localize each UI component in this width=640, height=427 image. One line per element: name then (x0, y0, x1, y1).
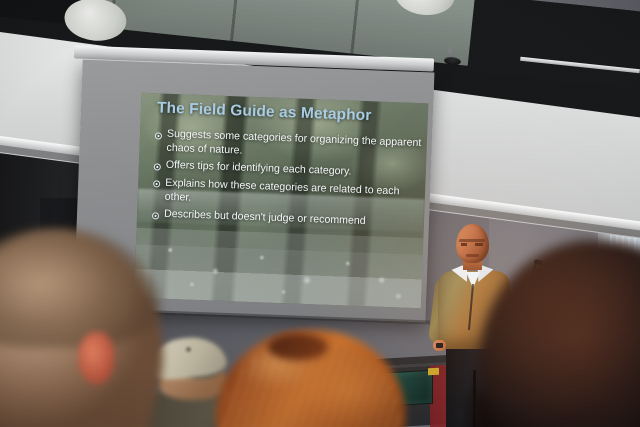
slide-bullet-list: Suggests some categories for organizing … (151, 127, 422, 235)
presenter-mouth (466, 254, 479, 257)
lecture-hall-photo: The Field Guide as Metaphor Suggests som… (0, 0, 640, 427)
presenter-brow (459, 239, 485, 242)
red-hair-part (268, 334, 328, 360)
projected-slide: The Field Guide as Metaphor Suggests som… (134, 93, 428, 308)
audience-left-ear (78, 332, 114, 384)
presentation-clicker (436, 343, 443, 348)
presenter-eyes (461, 243, 483, 246)
audience-head-red-hair (216, 330, 406, 427)
sprinkler-head-2 (448, 47, 452, 53)
cap-button (186, 347, 191, 352)
